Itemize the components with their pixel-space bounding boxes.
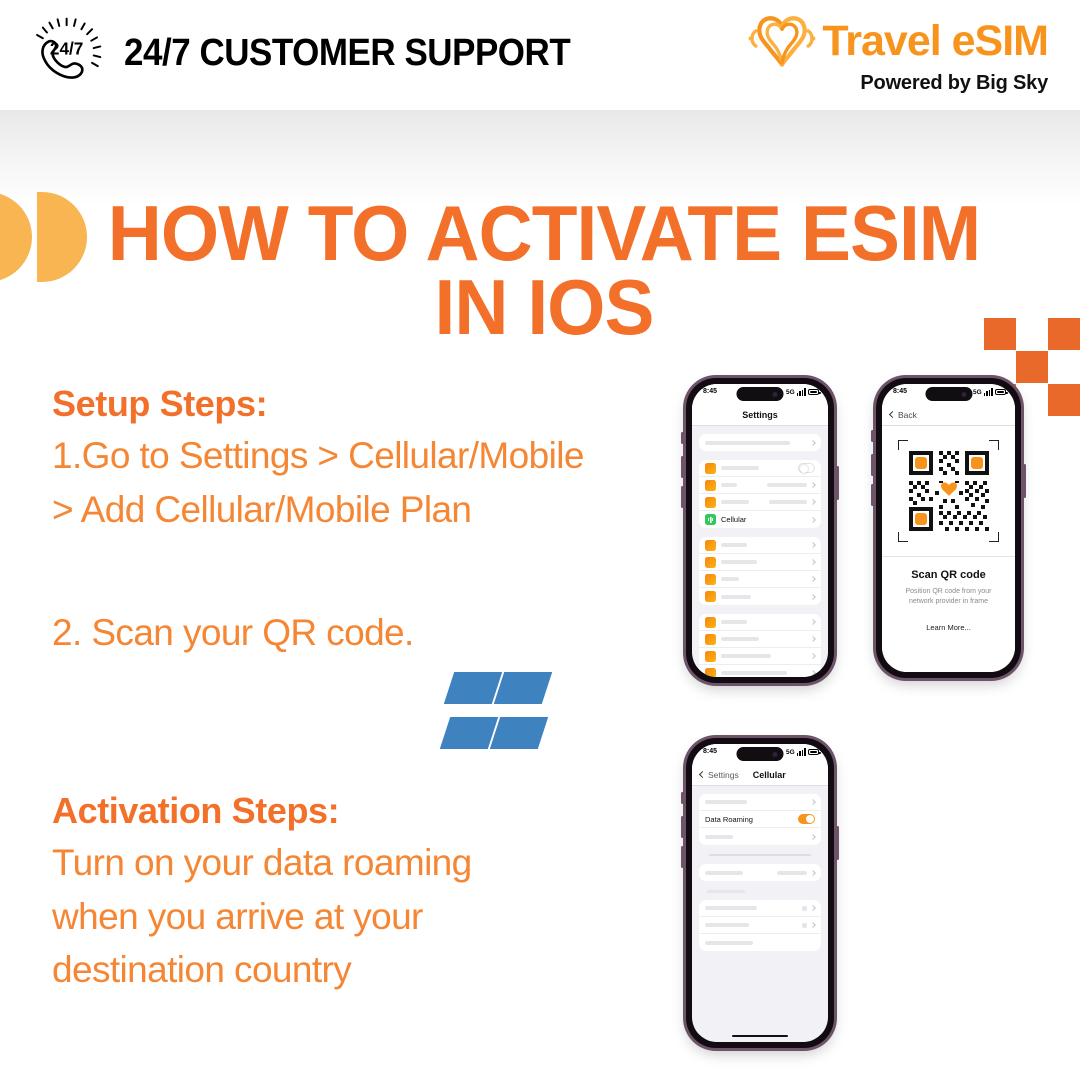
qr-code-icon (905, 447, 993, 535)
settings-group-2[interactable] (699, 537, 821, 605)
placeholder-value (769, 500, 807, 504)
setup-steps-block: Setup Steps: 1.Go to Settings > Cellular… (52, 383, 584, 536)
settings-navbar: Settings (692, 404, 828, 426)
status-time: 8:45 (703, 748, 717, 755)
list-item[interactable] (699, 477, 821, 494)
back-label: Back (898, 410, 917, 420)
placeholder-value (777, 871, 807, 875)
back-button[interactable]: Back (890, 410, 917, 420)
phone-24-7-icon: 24/7 (24, 12, 106, 94)
settings-row-cellular[interactable]: Cellular (699, 511, 821, 528)
placeholder-label (705, 923, 749, 927)
chevron-right-icon (810, 922, 816, 928)
placeholder-label (705, 835, 733, 839)
settings-group-search[interactable] (699, 434, 821, 451)
phone-settings-mockup: 8:45 5G Settings (686, 378, 834, 683)
status-time: 8:45 (893, 388, 907, 395)
brand-logo: Travel eSIM Powered by Big Sky (748, 14, 1048, 95)
blue-parallelogram-decoration (445, 672, 545, 767)
placeholder-value (802, 923, 807, 928)
app-icon (705, 651, 716, 662)
brand-name: Travel eSIM (822, 20, 1048, 63)
placeholder-label (705, 441, 790, 445)
chevron-right-icon (810, 542, 816, 548)
list-item[interactable] (699, 614, 821, 631)
page-title: HOW TO ACTIVATE ESIM IN IOS (106, 196, 982, 344)
app-icon (705, 574, 716, 585)
status-bar: 8:45 5G (692, 744, 828, 764)
placeholder-label (721, 654, 771, 658)
chevron-right-icon (810, 653, 816, 659)
phone-qr-mockup: 8:45 5G Back (876, 378, 1021, 678)
placeholder-label (721, 671, 787, 675)
chevron-right-icon (810, 834, 816, 840)
list-item[interactable] (699, 554, 821, 571)
app-icon (705, 480, 716, 491)
signal-bars-icon (797, 388, 806, 396)
chevron-left-icon[interactable] (699, 771, 706, 778)
learn-more-link[interactable]: Learn More... (894, 623, 1003, 632)
status-time: 8:45 (703, 388, 717, 395)
list-item[interactable] (699, 648, 821, 665)
chevron-right-icon (810, 559, 816, 565)
data-roaming-row[interactable]: Data Roaming (699, 811, 821, 828)
toggle-switch[interactable] (798, 463, 815, 473)
scan-description: Position QR code from your network provi… (894, 587, 1003, 607)
cellular-screen: 8:45 5G Settings Cellular Data Roaming (692, 744, 828, 1042)
placeholder-label (721, 595, 751, 599)
chevron-left-icon (889, 411, 896, 418)
chevron-right-icon (810, 576, 816, 582)
chevron-right-icon (810, 517, 816, 523)
status-bar: 8:45 5G (692, 384, 828, 404)
activation-steps-heading: Activation Steps: (52, 790, 532, 832)
list-item[interactable] (699, 631, 821, 648)
cellular-label: Cellular (721, 515, 746, 524)
setup-step-1-cont: > Add Cellular/Mobile Plan (52, 483, 584, 537)
placeholder-label (721, 620, 747, 624)
section-header-placeholder (707, 890, 745, 893)
app-icon (705, 634, 716, 645)
list-item[interactable] (699, 794, 821, 811)
cellular-group-3[interactable] (699, 900, 821, 951)
list-item[interactable] (699, 434, 821, 451)
list-item[interactable] (699, 917, 821, 934)
support-headline: 24/7 CUSTOMER SUPPORT (124, 32, 570, 75)
placeholder-value (802, 906, 807, 911)
section-divider (709, 854, 811, 856)
scan-instructions: Scan QR code Position QR code from your … (882, 556, 1015, 672)
data-roaming-toggle[interactable] (798, 814, 815, 824)
qr-scan-screen: 8:45 5G Back (882, 384, 1015, 672)
chevron-right-icon (810, 619, 816, 625)
placeholder-value (767, 483, 807, 487)
app-icon (705, 497, 716, 508)
phone-cellular-mockup: 8:45 5G Settings Cellular Data Roaming (686, 738, 834, 1048)
scan-step-block: 2. Scan your QR code. (52, 606, 414, 660)
placeholder-label (721, 637, 759, 641)
activation-steps-body: Turn on your data roaming when you arriv… (52, 836, 532, 997)
svg-text:24/7: 24/7 (50, 39, 83, 59)
chevron-right-icon (810, 482, 816, 488)
butterfly-logo-icon (748, 14, 816, 68)
placeholder-label (705, 800, 747, 804)
dynamic-island (737, 747, 784, 761)
list-item[interactable] (699, 665, 821, 677)
placeholder-label (721, 543, 747, 547)
list-item[interactable] (699, 571, 821, 588)
settings-screen: 8:45 5G Settings (692, 384, 828, 677)
chevron-right-icon (810, 636, 816, 642)
chevron-right-icon (810, 870, 816, 876)
list-item[interactable] (699, 934, 821, 951)
placeholder-label (721, 577, 739, 581)
cellular-list: Data Roaming (692, 786, 828, 951)
dynamic-island (925, 387, 972, 401)
list-item[interactable] (699, 900, 821, 917)
chevron-right-icon (810, 440, 816, 446)
dynamic-island (737, 387, 784, 401)
support-block: 24/7 24/7 CUSTOMER SUPPORT (24, 12, 609, 94)
cellular-group-1[interactable]: Data Roaming (699, 794, 821, 845)
placeholder-label (721, 500, 749, 504)
placeholder-label (705, 906, 757, 910)
app-icon (705, 540, 716, 551)
half-circle-decoration (0, 192, 87, 282)
placeholder-label (721, 483, 737, 487)
activation-steps-block: Activation Steps: Turn on your data roam… (52, 790, 532, 997)
settings-group-3[interactable] (699, 614, 821, 677)
setup-step-2: 2. Scan your QR code. (52, 606, 414, 660)
back-label[interactable]: Settings (708, 770, 739, 780)
signal-bars-icon (984, 388, 993, 396)
status-network: 5G (786, 389, 795, 396)
settings-nav-title: Settings (742, 410, 778, 420)
brand-tagline: Powered by Big Sky (748, 72, 1048, 95)
qr-navbar: Back (882, 404, 1015, 426)
settings-group-connectivity[interactable]: Cellular (699, 460, 821, 528)
app-icon (705, 591, 716, 602)
chevron-right-icon (810, 499, 816, 505)
placeholder-label (705, 871, 743, 875)
cellular-navbar: Settings Cellular (692, 764, 828, 786)
setup-steps-heading: Setup Steps: (52, 383, 584, 425)
list-item[interactable] (699, 828, 821, 845)
placeholder-label (705, 941, 753, 945)
status-network: 5G (973, 389, 982, 396)
placeholder-label (721, 466, 759, 470)
app-icon (705, 557, 716, 568)
app-icon (705, 668, 716, 678)
setup-step-1: 1.Go to Settings > Cellular/Mobile (52, 429, 584, 483)
placeholder-label (721, 560, 757, 564)
chevron-right-icon (810, 670, 816, 676)
battery-icon (995, 389, 1006, 395)
app-icon (705, 617, 716, 628)
list-item[interactable] (699, 460, 821, 477)
battery-icon (808, 749, 819, 755)
settings-list: Cellular (692, 426, 828, 677)
page-header: 24/7 24/7 CUSTOMER SUPPORT Travel eSIM P… (0, 0, 1080, 110)
chevron-right-icon (810, 594, 816, 600)
cellular-group-2[interactable] (699, 864, 821, 881)
signal-bars-icon (797, 748, 806, 756)
chevron-right-icon (810, 799, 816, 805)
chevron-right-icon (810, 905, 816, 911)
scan-title: Scan QR code (894, 569, 1003, 581)
list-item[interactable] (699, 864, 821, 881)
battery-icon (808, 389, 819, 395)
data-roaming-label: Data Roaming (705, 815, 753, 824)
status-network: 5G (786, 749, 795, 756)
status-bar: 8:45 5G (882, 384, 1015, 404)
list-item[interactable] (699, 588, 821, 605)
home-indicator (732, 1035, 788, 1038)
qr-camera-frame (882, 426, 1015, 556)
app-icon (705, 463, 716, 474)
qr-center-butterfly-icon (939, 482, 959, 497)
list-item[interactable] (699, 494, 821, 511)
list-item[interactable] (699, 537, 821, 554)
cellular-nav-title: Cellular (753, 770, 786, 780)
cellular-icon (705, 514, 716, 525)
